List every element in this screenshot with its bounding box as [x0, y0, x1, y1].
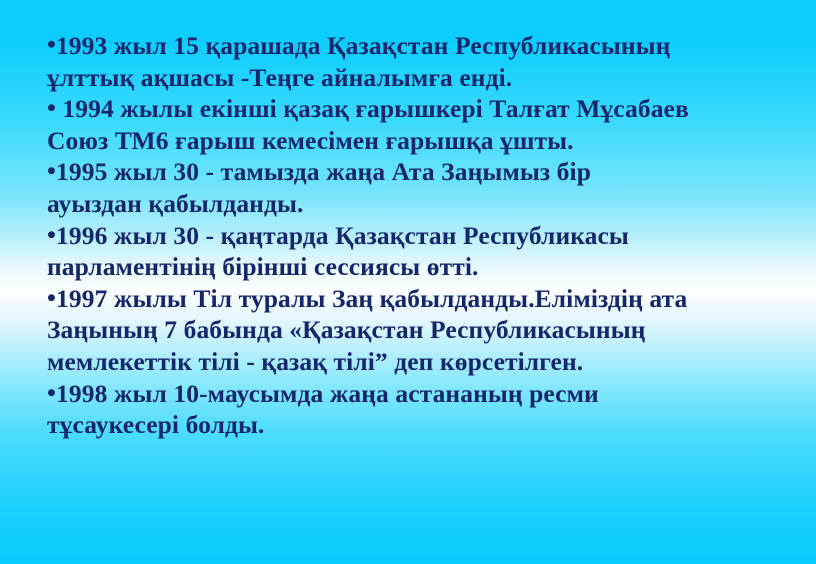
- slide-canvas: •1993 жыл 15 қарашада Қазақстан Республи…: [0, 0, 816, 564]
- continuation-line: тұсаукесері болды.: [47, 409, 777, 441]
- line-text: Союз ТМ6 ғарыш кемесімен ғарышқа ұшты.: [47, 126, 574, 155]
- line-text: ауыздан қабылданды.: [47, 189, 303, 218]
- line-text: парламентінің бірінші сессиясы өтті.: [47, 252, 479, 281]
- continuation-line: Заңының 7 бабында «Қазақстан Республикас…: [47, 314, 777, 346]
- slide-body-text: •1993 жыл 15 қарашада Қазақстан Республи…: [47, 30, 777, 441]
- line-text: ұлттық ақшасы -Теңге айналымға енді.: [47, 63, 512, 92]
- continuation-line: мемлекеттік тілі - қазақ тілі” деп көрсе…: [47, 346, 777, 378]
- bullet-line: •1997 жылы Тіл туралы Заң қабылданды.Елі…: [47, 283, 777, 315]
- bullet-icon: •: [47, 93, 56, 122]
- bullet-line: •1993 жыл 15 қарашада Қазақстан Республи…: [47, 30, 777, 62]
- continuation-line: ауыздан қабылданды.: [47, 188, 777, 220]
- line-text: 1996 жыл 30 - қаңтарда Қазақстан Республ…: [56, 221, 629, 250]
- continuation-line: ұлттық ақшасы -Теңге айналымға енді.: [47, 62, 777, 94]
- line-text: 1994 жылы екінші қазақ ғарышкері Талғат …: [56, 94, 689, 123]
- continuation-line: парламентінің бірінші сессиясы өтті.: [47, 251, 777, 283]
- line-text: мемлекеттік тілі - қазақ тілі” деп көрсе…: [47, 347, 583, 376]
- bullet-line: •1996 жыл 30 - қаңтарда Қазақстан Респуб…: [47, 220, 777, 252]
- bullet-icon: •: [47, 29, 56, 58]
- continuation-line: Союз ТМ6 ғарыш кемесімен ғарышқа ұшты.: [47, 125, 777, 157]
- bullet-icon: •: [47, 156, 56, 185]
- bullet-line: • 1994 жылы екінші қазақ ғарышкері Талға…: [47, 93, 777, 125]
- line-text: тұсаукесері болды.: [47, 410, 265, 439]
- bullet-line: •1998 жыл 10-маусымда жаңа астананың рес…: [47, 378, 777, 410]
- line-text: Заңының 7 бабында «Қазақстан Республикас…: [47, 315, 646, 344]
- line-text: 1998 жыл 10-маусымда жаңа астананың ресм…: [56, 379, 599, 408]
- line-text: 1997 жылы Тіл туралы Заң қабылданды.Елім…: [56, 284, 687, 313]
- bullet-line: •1995 жыл 30 - тамызда жаңа Ата Заңымыз …: [47, 156, 777, 188]
- line-text: 1995 жыл 30 - тамызда жаңа Ата Заңымыз б…: [56, 157, 591, 186]
- bullet-icon: •: [47, 283, 56, 312]
- line-text: 1993 жыл 15 қарашада Қазақстан Республик…: [56, 31, 671, 60]
- bullet-icon: •: [47, 220, 56, 249]
- bullet-icon: •: [47, 378, 56, 407]
